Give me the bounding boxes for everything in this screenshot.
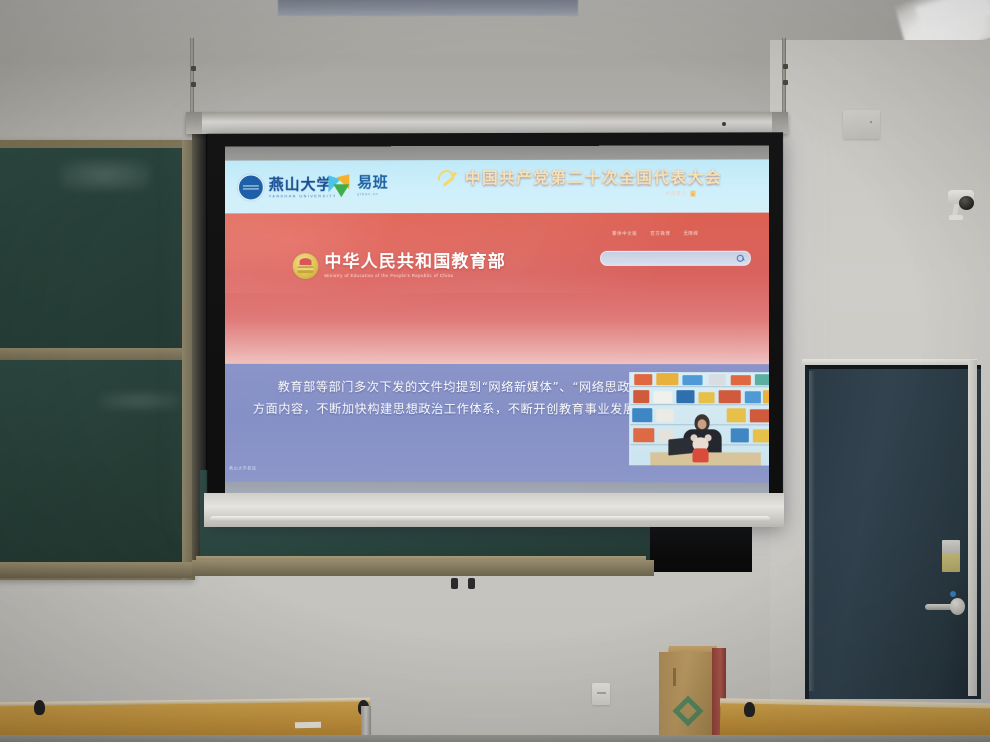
search-icon[interactable] xyxy=(737,254,745,262)
university-seal-icon xyxy=(238,174,264,200)
projector-screen-housing xyxy=(186,112,788,134)
chalk-smudge xyxy=(60,160,150,190)
classroom-projection-scene: 燕山大学 YANSHAN UNIVERSITY 易班 yiban.cn 中国共产… xyxy=(0,0,990,742)
screen-housing-endcap-right xyxy=(772,112,788,134)
congress-title: 中国共产党第二十次全国代表大会 xyxy=(465,166,722,189)
screen-mount-bracket-left xyxy=(188,38,200,116)
screen-housing-indicator xyxy=(722,122,726,126)
congress-enter-label: 点击进入 xyxy=(665,191,687,197)
door-highlight xyxy=(809,371,815,691)
desk-corner-cap xyxy=(34,700,45,715)
national-emblem-icon xyxy=(293,253,319,279)
outlet-slot xyxy=(597,692,606,694)
ministry-header[interactable]: 中华人民共和国教育部 Ministry of Education of the … xyxy=(293,253,506,279)
platform-name-cn: 易班 xyxy=(357,175,388,190)
door-card-reader[interactable] xyxy=(942,553,960,572)
projected-slide: 燕山大学 YANSHAN UNIVERSITY 易班 yiban.cn 中国共产… xyxy=(225,145,769,498)
yanshan-university-logo[interactable]: 燕山大学 YANSHAN UNIVERSITY xyxy=(238,174,337,200)
screen-mount-bracket-right xyxy=(780,38,792,116)
nav-link-traditional[interactable]: 繁体中文版 xyxy=(612,231,637,237)
ministry-name-en: Ministry of Education of the People's Re… xyxy=(324,274,506,278)
camera-lens-icon xyxy=(959,196,974,210)
blackboard-clip xyxy=(451,578,458,589)
wall-mounted-box xyxy=(843,110,880,139)
yiban-mark-icon xyxy=(328,173,353,198)
floor-strip xyxy=(0,735,990,742)
plush-toy-body xyxy=(692,448,708,462)
congress-enter-link[interactable]: 点击进入 › xyxy=(665,191,695,197)
congress-title-row[interactable]: 中国共产党第二十次全国代表大会 xyxy=(438,166,722,189)
door-plate xyxy=(942,540,960,554)
ministry-nav-links[interactable]: 繁体中文版 官方微博 无障碍 xyxy=(612,231,698,237)
wall-box-screw xyxy=(870,121,872,123)
left-blackboard-bottom-frame xyxy=(0,562,194,578)
wall-power-outlet[interactable] xyxy=(592,683,610,705)
university-name-en: YANSHAN UNIVERSITY xyxy=(269,194,337,198)
chalk-smudge xyxy=(100,392,180,410)
platform-name-en: yiban.cn xyxy=(357,192,388,196)
site-search-input[interactable] xyxy=(600,251,751,266)
blackboard-clip xyxy=(468,578,475,589)
camera-mount xyxy=(949,215,963,220)
desk-corner-cap xyxy=(744,702,755,717)
classroom-door[interactable] xyxy=(805,365,981,699)
door-keyhole xyxy=(950,591,956,597)
browser-chrome-bar xyxy=(225,145,769,160)
door-handle-base xyxy=(950,598,965,615)
university-name-cn: 燕山大学 xyxy=(269,177,337,192)
ceiling-duct xyxy=(278,0,578,16)
nav-link-weibo[interactable]: 官方微博 xyxy=(650,231,670,237)
door-frame-right xyxy=(968,360,977,696)
hammer-sickle-icon xyxy=(438,169,458,186)
presenter-video-feed[interactable] xyxy=(629,372,769,465)
chevron-right-icon: › xyxy=(690,191,695,197)
yiban-platform-logo[interactable]: 易班 yiban.cn xyxy=(328,173,388,198)
trash-box-tape xyxy=(673,668,676,686)
presenter-face xyxy=(698,419,707,429)
left-blackboard-lower-panel xyxy=(0,360,182,565)
nav-link-accessibility[interactable]: 无障碍 xyxy=(683,231,698,237)
slide-footnote: 燕山大学易班 xyxy=(229,465,256,471)
presenter-laptop xyxy=(668,437,692,456)
center-blackboard-bottom-frame xyxy=(192,560,654,576)
screen-weight-bar xyxy=(210,516,770,522)
ministry-name-cn: 中华人民共和国教育部 xyxy=(324,254,506,271)
paper-on-desk xyxy=(295,722,321,728)
screen-housing-endcap-left xyxy=(186,112,202,134)
